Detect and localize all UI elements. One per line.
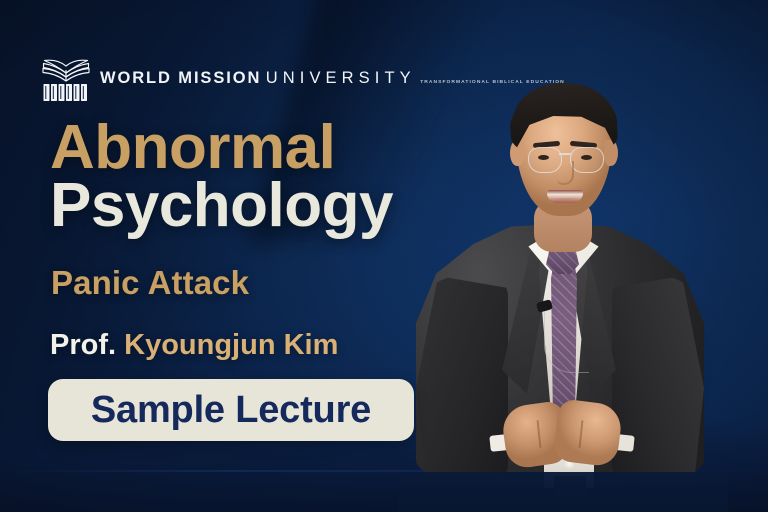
nose	[557, 161, 574, 185]
chin-shading	[538, 198, 592, 216]
logo-wordmark: WORLD MISSION UNIVERSITY TRANSFORMATIONA…	[100, 69, 565, 88]
open-book-pillars-icon	[41, 55, 91, 103]
logo-tagline: TRANSFORMATIONAL BIBLICAL EDUCATION	[420, 79, 564, 85]
course-promo-card: WORLD MISSION UNIVERSITY TRANSFORMATIONA…	[0, 0, 768, 512]
course-title-line-2: Psychology	[50, 175, 393, 237]
microphone-wire	[544, 310, 589, 373]
presenter-name: Kyoungjun Kim	[124, 329, 338, 361]
eyeglass-bridge	[559, 153, 571, 155]
university-logo: WORLD MISSION UNIVERSITY TRANSFORMATIONA…	[41, 55, 565, 103]
presenter-photo	[398, 48, 728, 472]
sample-lecture-label: Sample Lecture	[91, 391, 371, 429]
logo-line-1: WORLD MISSION	[100, 69, 261, 87]
sample-lecture-button[interactable]: Sample Lecture	[48, 379, 414, 441]
course-title-line-1: Abnormal	[50, 117, 335, 179]
course-subtitle: Panic Attack	[51, 266, 249, 299]
presenter-credit: Prof. Kyoungjun Kim	[50, 331, 338, 360]
photo-bottom-crop	[398, 472, 728, 512]
eyeglass-lens-right	[570, 147, 604, 173]
presenter-role: Prof.	[50, 329, 124, 361]
ear-right	[604, 140, 618, 166]
logo-line-2: UNIVERSITY	[266, 69, 416, 87]
